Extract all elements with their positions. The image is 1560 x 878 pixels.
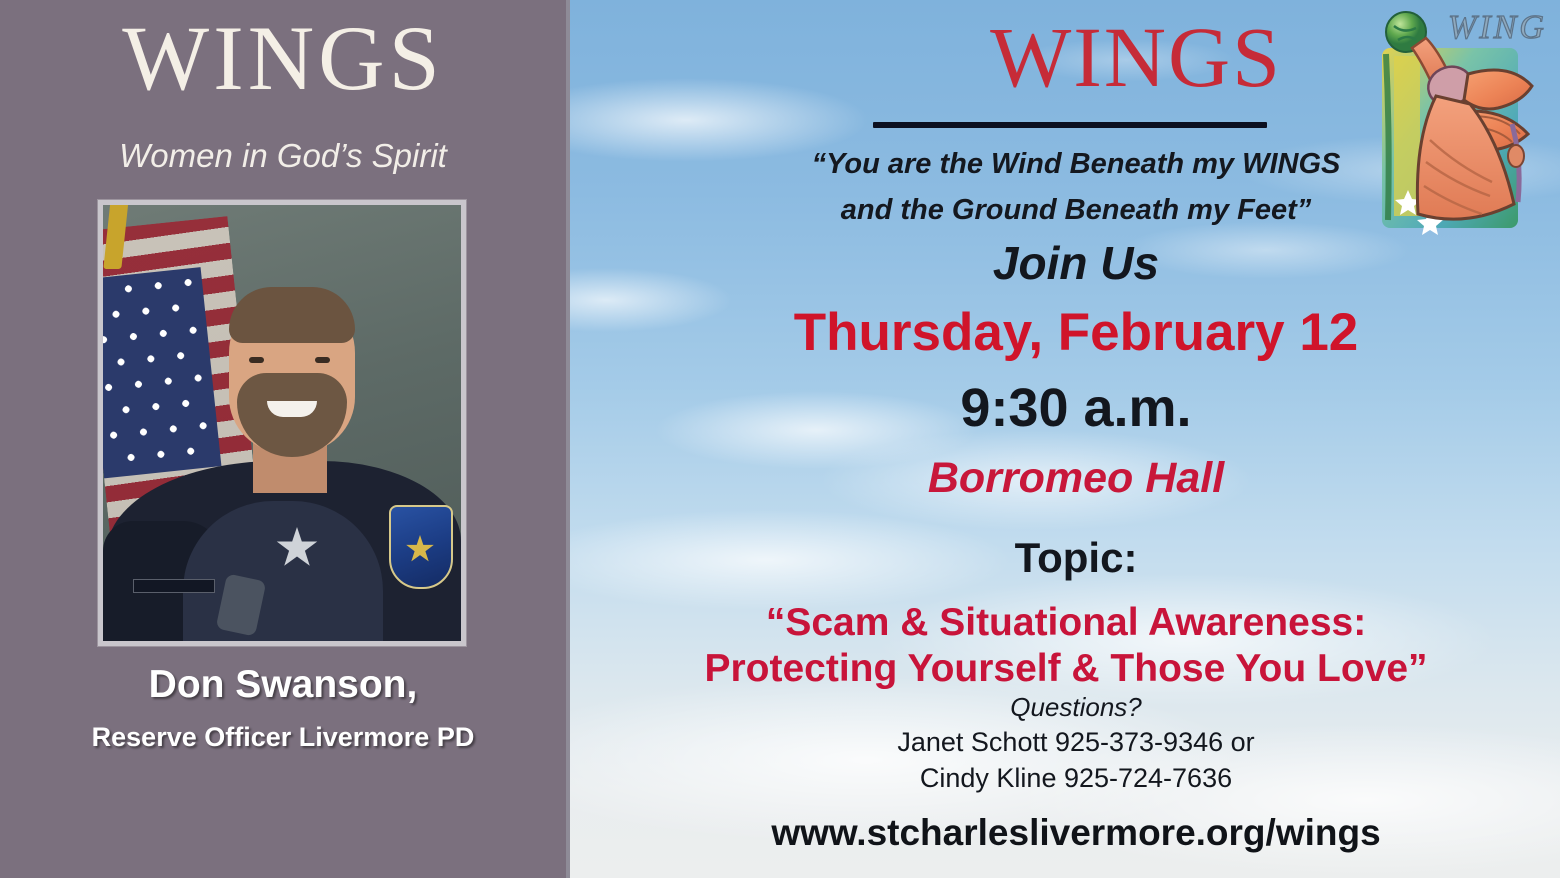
right-panel: WINGS “You are the Wind Beneath my WINGS… xyxy=(566,0,1560,878)
left-org-tagline: Women in God’s Spirit xyxy=(0,137,566,175)
speaker-name: Don Swanson, xyxy=(0,663,566,707)
logo-wordmark: WINGS xyxy=(1448,9,1546,46)
speaker-title: Reserve Officer Livermore PD xyxy=(0,722,566,753)
officer-eye-left xyxy=(249,357,264,363)
panel-divider xyxy=(566,0,570,878)
quote-line-2: and the Ground Beneath my Feet” xyxy=(716,194,1436,227)
event-flyer: WINGS Women in God’s Spirit xyxy=(0,0,1560,878)
topic-line-2: Protecting Yourself & Those You Love” xyxy=(626,647,1506,691)
topic-label: Topic: xyxy=(716,534,1436,582)
contact-line-1: Janet Schott 925-373-9346 or xyxy=(716,727,1436,758)
angel-logo-icon: WINGS xyxy=(1364,4,1546,242)
event-location: Borromeo Hall xyxy=(716,454,1436,503)
shoulder-patch-icon xyxy=(389,505,453,589)
speaker-photo-frame xyxy=(98,200,466,646)
speaker-photo xyxy=(103,205,461,641)
contact-line-2: Cindy Kline 925-724-7636 xyxy=(716,763,1436,794)
join-us-heading: Join Us xyxy=(716,236,1436,290)
title-divider-rule xyxy=(873,122,1267,128)
officer-nameplate xyxy=(133,579,215,593)
website-url[interactable]: www.stcharleslivermore.org/wings xyxy=(666,812,1486,854)
questions-label: Questions? xyxy=(716,692,1436,723)
event-time: 9:30 a.m. xyxy=(716,377,1436,439)
quote-line-1: “You are the Wind Beneath my WINGS xyxy=(716,148,1436,181)
officer-eye-right xyxy=(315,357,330,363)
right-org-title: WINGS xyxy=(856,12,1416,102)
left-org-title: WINGS xyxy=(0,10,566,107)
officer-hair xyxy=(229,287,355,343)
left-panel: WINGS Women in God’s Spirit xyxy=(0,0,566,878)
event-date: Thursday, February 12 xyxy=(666,302,1486,363)
topic-line-1: “Scam & Situational Awareness: xyxy=(626,601,1506,645)
